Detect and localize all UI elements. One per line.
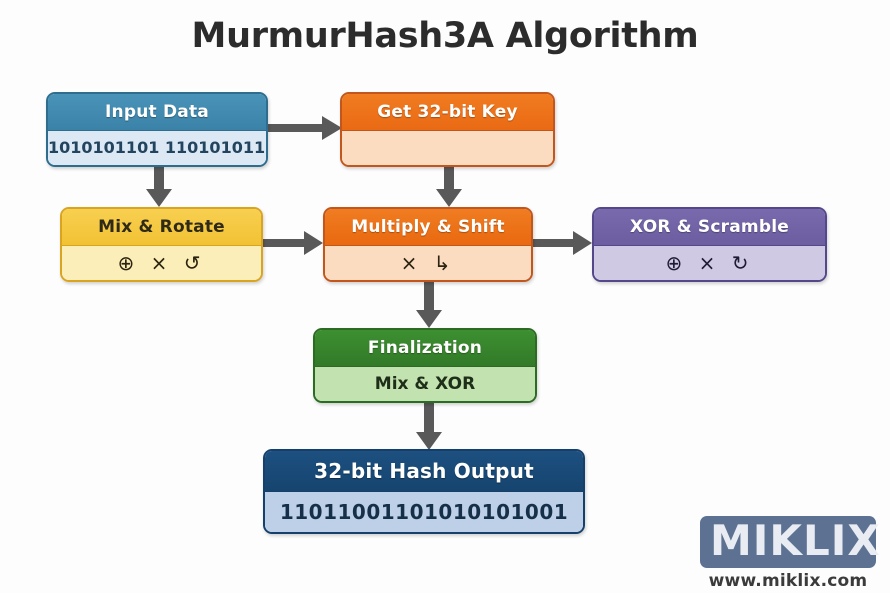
node-mix-rotate-header: Mix & Rotate xyxy=(62,209,261,246)
node-input-data-value: 1010101101 11010101110 xyxy=(48,131,266,165)
arrow-multiply-shift-to-xor-scramble xyxy=(531,229,594,257)
node-hash-output-value: 11011001101010101001 xyxy=(265,492,583,532)
watermark: MIKLIX www.miklix.com xyxy=(700,516,876,591)
node-multiply-shift[interactable]: Multiply & Shift × ↳ xyxy=(323,207,533,282)
node-input-data[interactable]: Input Data 1010101101 11010101110 xyxy=(46,92,268,167)
node-finalization[interactable]: Finalization Mix & XOR xyxy=(313,328,537,403)
node-xor-scramble[interactable]: XOR & Scramble ⊕ × ↻ xyxy=(592,207,827,282)
node-multiply-shift-operators: × ↳ xyxy=(325,246,531,280)
node-get-32bit-key[interactable]: Get 32-bit Key xyxy=(340,92,555,167)
node-finalization-value: Mix & XOR xyxy=(315,367,535,401)
arrow-multiply-shift-to-finalization xyxy=(414,282,444,330)
node-get-32bit-key-header: Get 32-bit Key xyxy=(342,94,553,131)
node-multiply-shift-header: Multiply & Shift xyxy=(325,209,531,246)
arrow-input-to-mix-rotate xyxy=(144,161,174,209)
arrow-get-key-to-multiply-shift xyxy=(434,161,464,209)
node-get-32bit-key-value xyxy=(342,131,553,165)
arrow-mix-rotate-to-multiply-shift xyxy=(262,229,325,257)
arrow-finalization-to-hash-output xyxy=(414,402,444,452)
node-mix-rotate[interactable]: Mix & Rotate ⊕ × ↺ xyxy=(60,207,263,282)
page-title: MurmurHash3A Algorithm xyxy=(0,16,890,56)
node-mix-rotate-operators: ⊕ × ↺ xyxy=(62,246,261,280)
arrow-input-to-get-key xyxy=(266,114,344,142)
node-xor-scramble-header: XOR & Scramble xyxy=(594,209,825,246)
node-finalization-header: Finalization xyxy=(315,330,535,367)
watermark-url: www.miklix.com xyxy=(700,571,876,591)
watermark-brand: MIKLIX xyxy=(710,519,866,563)
node-xor-scramble-operators: ⊕ × ↻ xyxy=(594,246,825,280)
node-input-data-header: Input Data xyxy=(48,94,266,131)
watermark-brand-box: MIKLIX xyxy=(700,516,876,568)
node-hash-output[interactable]: 32-bit Hash Output 11011001101010101001 xyxy=(263,449,585,534)
node-hash-output-header: 32-bit Hash Output xyxy=(265,451,583,492)
